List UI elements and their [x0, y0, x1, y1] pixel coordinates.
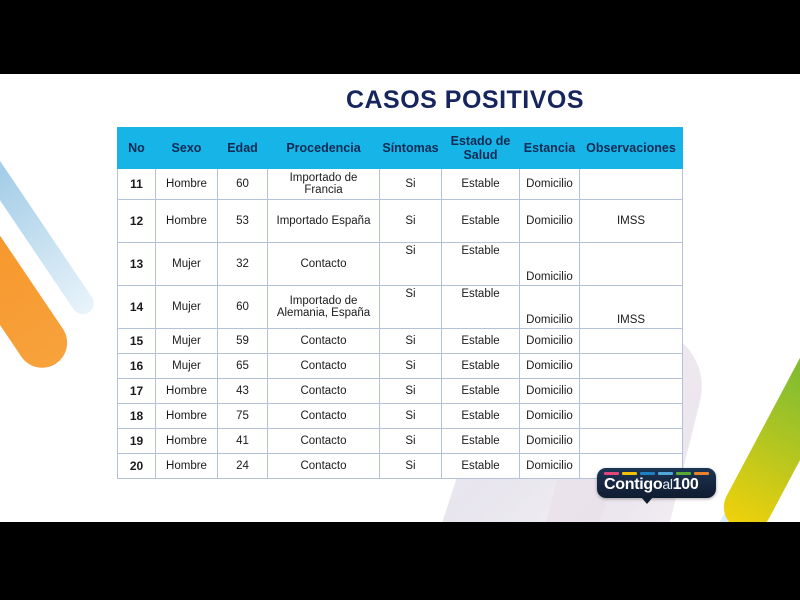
cell-estancia: Domicilio	[520, 286, 580, 329]
cell-no: 11	[118, 169, 156, 200]
cell-observaciones	[580, 243, 683, 286]
cell-no: 20	[118, 454, 156, 479]
cell-edad: 53	[218, 200, 268, 243]
cell-no: 13	[118, 243, 156, 286]
logo-dash-blue	[640, 472, 655, 475]
casos-positivos-table: No Sexo Edad Procedencia Síntomas Estado…	[117, 127, 683, 479]
logo-bubble: Contigoal100	[597, 468, 716, 498]
cell-estancia: Domicilio	[520, 329, 580, 354]
logo-dashes	[604, 472, 709, 475]
cell-estancia: Domicilio	[520, 243, 580, 286]
logo-dash-green	[676, 472, 691, 475]
cell-sintomas: Si	[380, 200, 442, 243]
cell-procedencia: Contacto	[268, 429, 380, 454]
cell-no: 15	[118, 329, 156, 354]
cell-estancia: Domicilio	[520, 354, 580, 379]
table-row[interactable]: 11 Hombre 60 Importado de Francia Si Est…	[118, 169, 683, 200]
cell-sexo: Hombre	[156, 454, 218, 479]
table-row[interactable]: 19 Hombre 41 Contacto Si Estable Domicil…	[118, 429, 683, 454]
cell-estancia: Domicilio	[520, 200, 580, 243]
table-row[interactable]: 13 Mujer 32 Contacto Si Estable Domicili…	[118, 243, 683, 286]
cell-sintomas: Si	[380, 169, 442, 200]
cell-observaciones	[580, 429, 683, 454]
cell-observaciones	[580, 404, 683, 429]
table-row[interactable]: 16 Mujer 65 Contacto Si Estable Domicili…	[118, 354, 683, 379]
cell-edad: 43	[218, 379, 268, 404]
logo-dash-cyan	[658, 472, 673, 475]
cell-sexo: Mujer	[156, 329, 218, 354]
cell-sexo: Hombre	[156, 429, 218, 454]
cell-procedencia: Contacto	[268, 404, 380, 429]
cell-sintomas: Si	[380, 286, 442, 329]
table-header: No Sexo Edad Procedencia Síntomas Estado…	[118, 128, 683, 169]
cell-estado-salud: Estable	[442, 329, 520, 354]
cell-sintomas: Si	[380, 329, 442, 354]
cell-edad: 65	[218, 354, 268, 379]
logo-dash-yellow	[622, 472, 637, 475]
cell-estado-salud: Estable	[442, 200, 520, 243]
cell-sexo: Hombre	[156, 379, 218, 404]
logo-text-contigo: Contigo	[604, 476, 662, 493]
logo-dash-pink	[604, 472, 619, 475]
cell-observaciones	[580, 329, 683, 354]
logo-text-100: 100	[673, 476, 699, 493]
cell-estancia: Domicilio	[520, 404, 580, 429]
column-header-estancia[interactable]: Estancia	[520, 128, 580, 169]
column-header-procedencia[interactable]: Procedencia	[268, 128, 380, 169]
cell-no: 12	[118, 200, 156, 243]
decor-ribbon-green	[715, 279, 800, 522]
logo-text-al: al	[662, 476, 672, 492]
cell-sexo: Mujer	[156, 286, 218, 329]
logo-dash-orange	[694, 472, 709, 475]
cell-edad: 75	[218, 404, 268, 429]
cell-sexo: Mujer	[156, 354, 218, 379]
cell-procedencia: Importado de Alemania, España	[268, 286, 380, 329]
column-header-no[interactable]: No	[118, 128, 156, 169]
cell-observaciones	[580, 379, 683, 404]
table-row[interactable]: 15 Mujer 59 Contacto Si Estable Domicili…	[118, 329, 683, 354]
cell-sintomas: Si	[380, 243, 442, 286]
table-body: 11 Hombre 60 Importado de Francia Si Est…	[118, 169, 683, 479]
cell-sexo: Hombre	[156, 169, 218, 200]
cell-edad: 41	[218, 429, 268, 454]
cell-edad: 24	[218, 454, 268, 479]
cell-edad: 60	[218, 169, 268, 200]
cell-observaciones: IMSS	[580, 286, 683, 329]
cell-no: 16	[118, 354, 156, 379]
letterbox-top	[0, 0, 800, 74]
cell-procedencia: Contacto	[268, 329, 380, 354]
cell-procedencia: Contacto	[268, 354, 380, 379]
cell-sintomas: Si	[380, 429, 442, 454]
casos-positivos-table-container: No Sexo Edad Procedencia Síntomas Estado…	[117, 127, 682, 479]
cell-sexo: Hombre	[156, 404, 218, 429]
cell-edad: 32	[218, 243, 268, 286]
cell-sexo: Hombre	[156, 200, 218, 243]
cell-observaciones: IMSS	[580, 200, 683, 243]
page-title: CASOS POSITIVOS	[0, 86, 800, 115]
cell-estado-salud: Estable	[442, 404, 520, 429]
cell-procedencia: Importado España	[268, 200, 380, 243]
cell-sintomas: Si	[380, 454, 442, 479]
cell-observaciones	[580, 354, 683, 379]
column-header-observaciones[interactable]: Observaciones	[580, 128, 683, 169]
column-header-edad[interactable]: Edad	[218, 128, 268, 169]
table-row[interactable]: 17 Hombre 43 Contacto Si Estable Domicil…	[118, 379, 683, 404]
cell-no: 19	[118, 429, 156, 454]
cell-estado-salud: Estable	[442, 379, 520, 404]
table-row[interactable]: 12 Hombre 53 Importado España Si Estable…	[118, 200, 683, 243]
cell-procedencia: Contacto	[268, 243, 380, 286]
presentation-slide: CASOS POSITIVOS No Sexo Edad Procedencia…	[0, 74, 800, 522]
cell-edad: 60	[218, 286, 268, 329]
cell-no: 18	[118, 404, 156, 429]
cell-sintomas: Si	[380, 404, 442, 429]
cell-estado-salud: Estable	[442, 354, 520, 379]
cell-sintomas: Si	[380, 379, 442, 404]
table-row[interactable]: 18 Hombre 75 Contacto Si Estable Domicil…	[118, 404, 683, 429]
cell-estado-salud: Estable	[442, 454, 520, 479]
slide-stage: CASOS POSITIVOS No Sexo Edad Procedencia…	[0, 0, 800, 600]
cell-estado-salud: Estable	[442, 169, 520, 200]
cell-estancia: Domicilio	[520, 429, 580, 454]
cell-estado-salud: Estable	[442, 243, 520, 286]
cell-edad: 59	[218, 329, 268, 354]
column-header-estado-salud[interactable]: Estado de Salud	[442, 128, 520, 169]
cell-no: 17	[118, 379, 156, 404]
logo-text: Contigoal100	[604, 477, 709, 493]
cell-sintomas: Si	[380, 354, 442, 379]
cell-estado-salud: Estable	[442, 429, 520, 454]
cell-estancia: Domicilio	[520, 454, 580, 479]
cell-observaciones	[580, 169, 683, 200]
cell-estancia: Domicilio	[520, 379, 580, 404]
letterbox-bottom	[0, 522, 800, 600]
cell-no: 14	[118, 286, 156, 329]
cell-procedencia: Contacto	[268, 454, 380, 479]
table-header-row: No Sexo Edad Procedencia Síntomas Estado…	[118, 128, 683, 169]
brand-logo[interactable]: Contigoal100	[597, 468, 716, 498]
cell-sexo: Mujer	[156, 243, 218, 286]
table-row[interactable]: 14 Mujer 60 Importado de Alemania, Españ…	[118, 286, 683, 329]
cell-procedencia: Importado de Francia	[268, 169, 380, 200]
cell-estancia: Domicilio	[520, 169, 580, 200]
cell-estado-salud: Estable	[442, 286, 520, 329]
cell-procedencia: Contacto	[268, 379, 380, 404]
column-header-sintomas[interactable]: Síntomas	[380, 128, 442, 169]
column-header-sexo[interactable]: Sexo	[156, 128, 218, 169]
